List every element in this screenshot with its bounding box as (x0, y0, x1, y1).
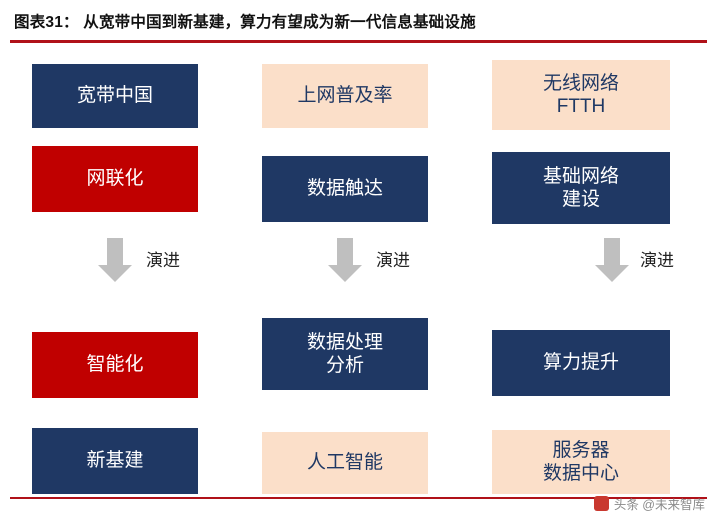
node-wuxian-wangluo-ftth: 无线网络 FTTH (492, 60, 670, 130)
arrow-down-column-1 (98, 238, 132, 284)
node-xinjijian: 新基建 (32, 428, 198, 494)
logo-icon (594, 496, 609, 511)
arrow-label-column-1: 演进 (146, 246, 180, 271)
arrow-down-column-3 (595, 238, 629, 284)
title-divider (10, 40, 707, 43)
node-suanli-tisheng: 算力提升 (492, 330, 670, 396)
page-title: 图表31： 从宽带中国到新基建，算力有望成为新一代信息基础设施 (14, 10, 476, 32)
node-shuju-chuli-fenxi: 数据处理 分析 (262, 318, 428, 390)
node-shangwang-puji: 上网普及率 (262, 64, 428, 128)
arrow-label-column-2: 演进 (376, 246, 410, 271)
arrow-label-column-3: 演进 (640, 246, 674, 271)
watermark: 头条 @未来智库 (594, 494, 705, 513)
watermark-text: 头条 @未来智库 (614, 494, 705, 513)
node-rengong-zhineng: 人工智能 (262, 432, 428, 494)
node-fuwuqi-shujuzhongxin: 服务器 数据中心 (492, 430, 670, 494)
figure-label: 图表31： (14, 14, 79, 31)
title-bar: 图表31： 从宽带中国到新基建，算力有望成为新一代信息基础设施 (0, 0, 717, 44)
figure-title-text: 从宽带中国到新基建，算力有望成为新一代信息基础设施 (83, 14, 476, 31)
node-jichu-wangluo-jianshe: 基础网络 建设 (492, 152, 670, 224)
node-zhinenghua: 智能化 (32, 332, 198, 398)
node-shuju-chuda: 数据触达 (262, 156, 428, 222)
arrow-down-column-2 (328, 238, 362, 284)
node-wanglianhua: 网联化 (32, 146, 198, 212)
node-kuandai-zhongguo: 宽带中国 (32, 64, 198, 128)
